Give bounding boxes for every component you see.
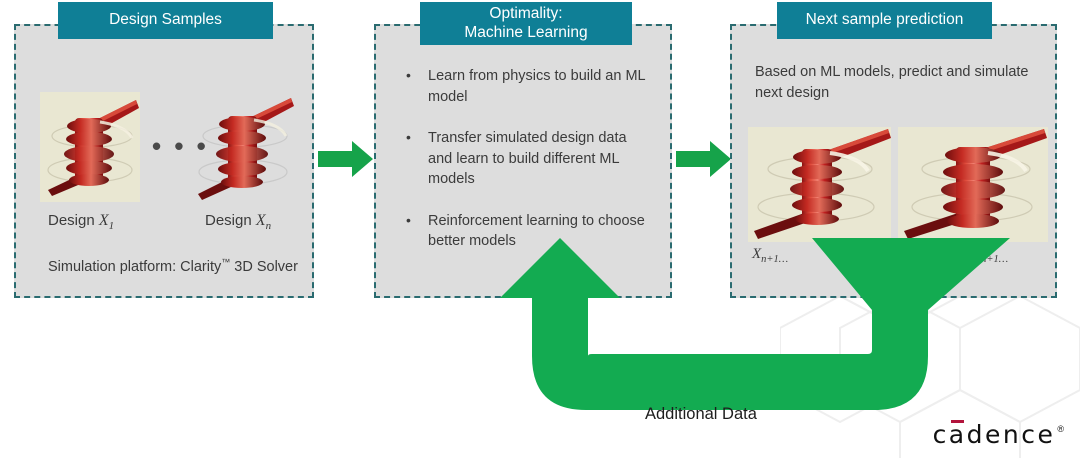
simulation-platform-note: Simulation platform: Clarity™ 3D Solver xyxy=(48,256,308,278)
list-item: • Learn from physics to build an ML mode… xyxy=(406,66,651,107)
panel-header-design-samples: Design Samples xyxy=(58,2,273,39)
design-sample-label-1: Design X1 xyxy=(48,212,114,232)
panel-title-line2: Machine Learning xyxy=(464,24,587,42)
design-sample-image-1 xyxy=(40,92,140,202)
bullet-text: Transfer simulated design data and learn… xyxy=(428,128,651,190)
panel-title-text: Design Samples xyxy=(109,11,222,29)
design-sample-image-2 xyxy=(190,92,295,204)
logo-macron-accent xyxy=(951,420,964,423)
arrow-panel2-to-panel3 xyxy=(676,138,732,180)
arrow-panel1-to-panel2 xyxy=(318,138,374,180)
predicted-sample-image-2 xyxy=(898,127,1048,242)
prediction-note: Based on ML models, predict and simulate… xyxy=(755,62,1045,104)
panel-header-optimality-ml: Optimality: Machine Learning xyxy=(420,2,632,45)
list-item: • Transfer simulated design data and lea… xyxy=(406,128,651,190)
bullet-glyph: • xyxy=(406,211,428,252)
bullet-glyph: • xyxy=(406,128,428,190)
cadence-wordmark: cadence xyxy=(933,422,1056,447)
predicted-sample-image-1 xyxy=(748,127,891,242)
panel-title-text: Next sample prediction xyxy=(806,11,964,29)
design-sample-label-2: Design Xn xyxy=(205,212,271,232)
bullet-text: Learn from physics to build an ML model xyxy=(428,66,651,107)
bullet-glyph: • xyxy=(406,66,428,107)
trademark-symbol: ™ xyxy=(221,257,230,267)
feedback-loop-arrow xyxy=(450,238,1010,458)
cadence-logo: cadence ® xyxy=(933,422,1064,447)
panel-header-next-sample-prediction: Next sample prediction xyxy=(777,2,992,39)
diagram-canvas: Design Samples xyxy=(0,0,1080,458)
additional-data-label: Additional Data xyxy=(645,405,757,424)
panel-title-line1: Optimality: xyxy=(489,5,562,23)
registered-trademark-symbol: ® xyxy=(1057,424,1064,434)
